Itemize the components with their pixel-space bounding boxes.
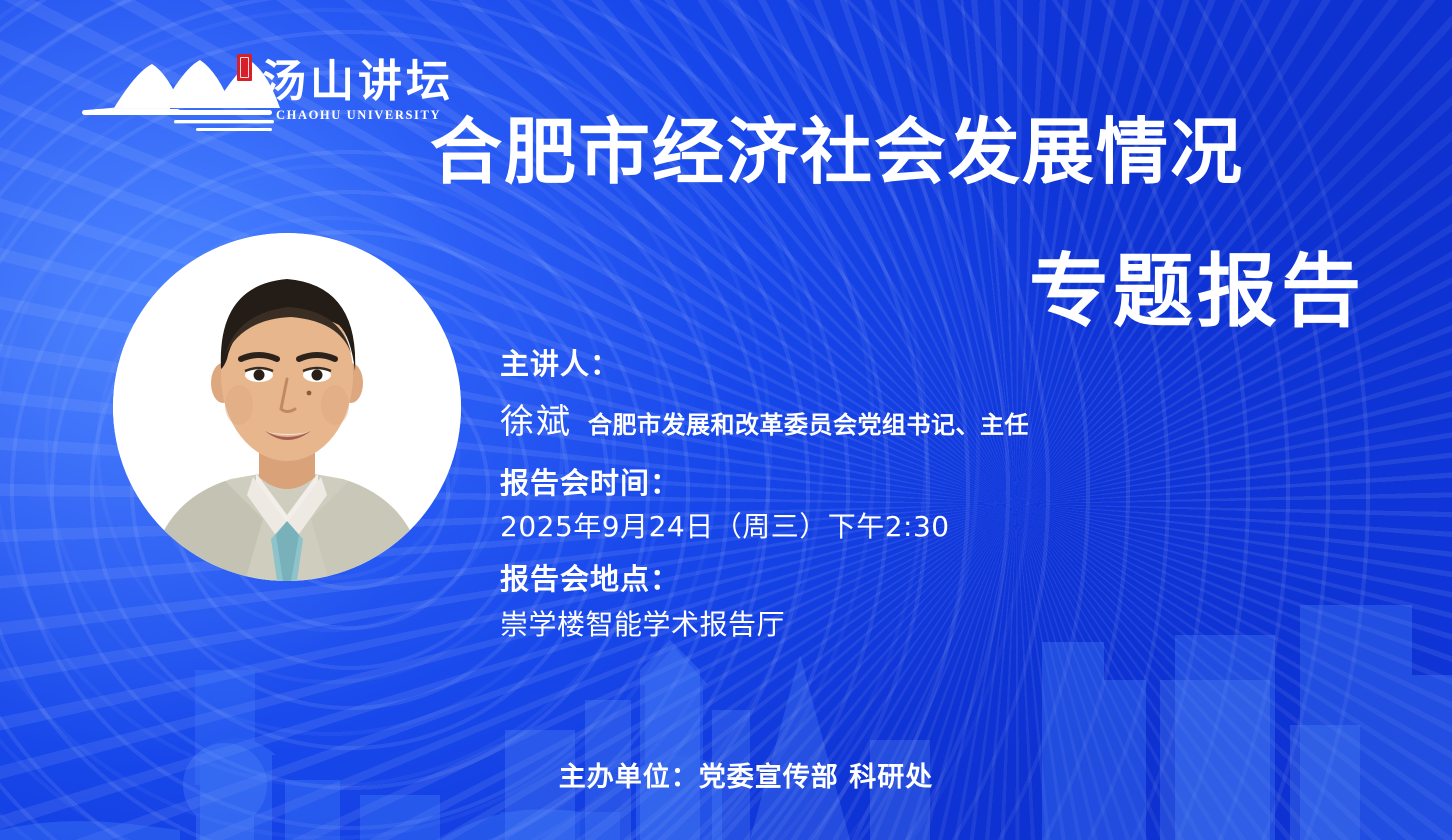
logo-chinese-text: 汤山讲坛 — [262, 60, 454, 104]
speaker-name: 徐斌 — [500, 394, 572, 443]
portrait-illustration — [113, 233, 461, 581]
brand-logo: 汤山讲坛 CHAOHU UNIVERSITY — [78, 52, 418, 144]
time-value: 2025年9月24日（周三）下午2:30 — [500, 508, 1220, 546]
poster-title-line2: 专题报告 — [430, 252, 1365, 332]
logo-english-text: CHAOHU UNIVERSITY — [276, 108, 441, 123]
mountain-logo-icon — [78, 52, 288, 134]
red-seal-icon — [237, 54, 252, 81]
event-details: 主讲人： 徐斌 合肥市发展和改革委员会党组书记、主任 报告会时间： 2025年9… — [500, 346, 1220, 643]
speaker-row: 徐斌 合肥市发展和改革委员会党组书记、主任 — [500, 394, 1220, 443]
organizer-line: 主办单位：党委宣传部 科研处 — [0, 755, 1452, 794]
time-label: 报告会时间： — [500, 465, 1220, 501]
speaker-portrait — [113, 233, 461, 581]
speaker-label: 主讲人： — [500, 346, 1220, 382]
location-label: 报告会地点： — [500, 561, 1220, 597]
poster-title-line1: 合肥市经济社会发展情况 — [430, 116, 1365, 188]
speaker-job-title: 合肥市发展和改革委员会党组书记、主任 — [588, 405, 1029, 440]
event-poster: 汤山讲坛 CHAOHU UNIVERSITY 合肥市经济社会发展情况 专题报告 — [0, 0, 1452, 840]
location-value: 崇学楼智能学术报告厅 — [500, 606, 1220, 644]
